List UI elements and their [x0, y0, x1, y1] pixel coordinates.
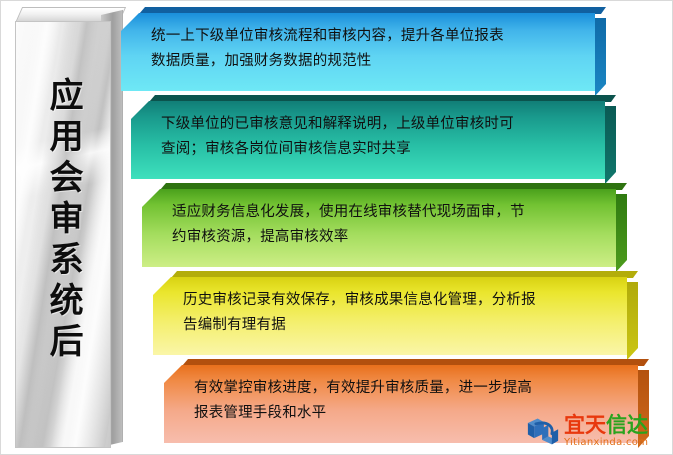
slide-canvas: 应用会审系统后 统一上下级单位审核流程和审核内容，提升各单位报表 数据质量，加强… — [0, 0, 673, 455]
banner-4-text: 历史审核记录有效保存，审核成果信息化管理，分析报 告编制有理有据 — [153, 277, 627, 338]
page-title: 应用会审系统后 — [15, 7, 111, 434]
watermark-logo: 宜天信达 Yitianxinda.com — [525, 409, 669, 453]
banner-2-right-bevel — [605, 106, 616, 184]
watermark-company-name: 宜天信达 — [564, 415, 648, 436]
banner-1-right-bevel — [595, 18, 606, 96]
page-title-text: 应用会审系统后 — [41, 77, 85, 364]
watermark-wordmark: 宜天信达 Yitianxinda.com — [564, 415, 648, 448]
watermark-name-part-a: 宜天 — [564, 413, 606, 437]
banner-3-text: 适应财务信息化发展，使用在线审核替代现场面审，节 约审核资源，提高审核效率 — [142, 189, 616, 250]
banner-2-text: 下级单位的已审核意见和解释说明，上级单位审核时可 查阅；审核各岗位间审核信息实时… — [131, 101, 605, 162]
banner-4-right-bevel — [627, 282, 638, 360]
benefit-banner-4[interactable]: 历史审核记录有效保存，审核成果信息化管理，分析报 告编制有理有据 — [153, 277, 627, 355]
watermark-domain: Yitianxinda.com — [564, 438, 648, 448]
watermark-name-part-b: 信达 — [606, 413, 648, 437]
benefit-banner-3[interactable]: 适应财务信息化发展，使用在线审核替代现场面审，节 约审核资源，提高审核效率 — [142, 189, 616, 267]
vertical-title-block: 应用会审系统后 — [15, 7, 125, 447]
benefit-banner-2[interactable]: 下级单位的已审核意见和解释说明，上级单位审核时可 查阅；审核各岗位间审核信息实时… — [131, 101, 605, 179]
benefit-banner-1[interactable]: 统一上下级单位审核流程和审核内容，提升各单位报表 数据质量，加强财务数据的规范性 — [121, 13, 595, 91]
banner-1-text: 统一上下级单位审核流程和审核内容，提升各单位报表 数据质量，加强财务数据的规范性 — [121, 13, 595, 74]
yitianxinda-logo-icon — [525, 415, 561, 447]
banner-3-right-bevel — [616, 194, 627, 272]
